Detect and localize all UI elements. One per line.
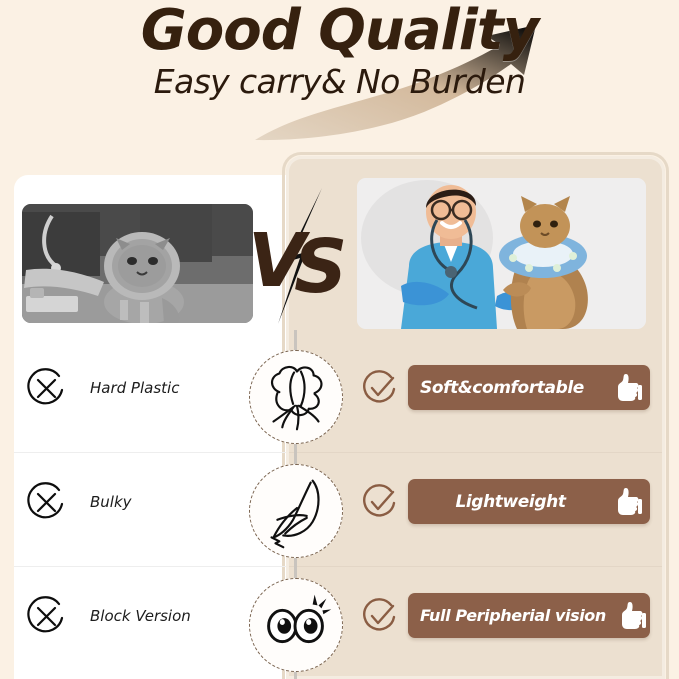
cartoon-eyes-icon xyxy=(249,578,343,672)
feather-icon xyxy=(249,464,343,558)
page-subtitle: Easy carry& No Burden xyxy=(0,62,679,101)
grayscale-cat-with-hard-cone-at-vet-photo xyxy=(22,204,253,323)
check-circle-icon xyxy=(362,484,398,520)
veterinarian-with-cat-in-blue-donut-collar-photo xyxy=(357,178,646,329)
svg-text:S: S xyxy=(294,224,347,310)
positive-feature-badge[interactable]: Soft&comfortable xyxy=(408,365,650,410)
check-circle-icon xyxy=(362,598,398,634)
vs-badge: V S xyxy=(248,188,360,324)
x-circle-icon xyxy=(26,368,67,409)
infographic-root: Good Quality Easy carry& No Burden xyxy=(0,0,679,679)
check-circle-icon xyxy=(362,370,398,406)
positive-feature-label: Lightweight xyxy=(408,492,613,512)
positive-feature-badge[interactable]: Full Peripherial vision xyxy=(408,593,650,638)
positive-feature-badge[interactable]: Lightweight xyxy=(408,479,650,524)
x-circle-icon xyxy=(26,596,67,637)
thumbs-up-icon xyxy=(613,487,643,517)
negative-feature-label: Block Version xyxy=(90,596,260,637)
thumbs-up-icon xyxy=(613,373,643,403)
positive-feature-label: Soft&comfortable xyxy=(408,378,613,398)
cotton-boll-icon xyxy=(249,350,343,444)
negative-feature-label: Bulky xyxy=(90,482,260,523)
positive-feature-label: Full Peripherial vision xyxy=(408,606,617,625)
negative-feature-label: Hard Plastic xyxy=(90,368,260,409)
header: Good Quality Easy carry& No Burden xyxy=(0,0,679,152)
thumbs-up-icon xyxy=(617,601,647,631)
x-circle-icon xyxy=(26,482,67,523)
page-title: Good Quality xyxy=(0,2,679,61)
